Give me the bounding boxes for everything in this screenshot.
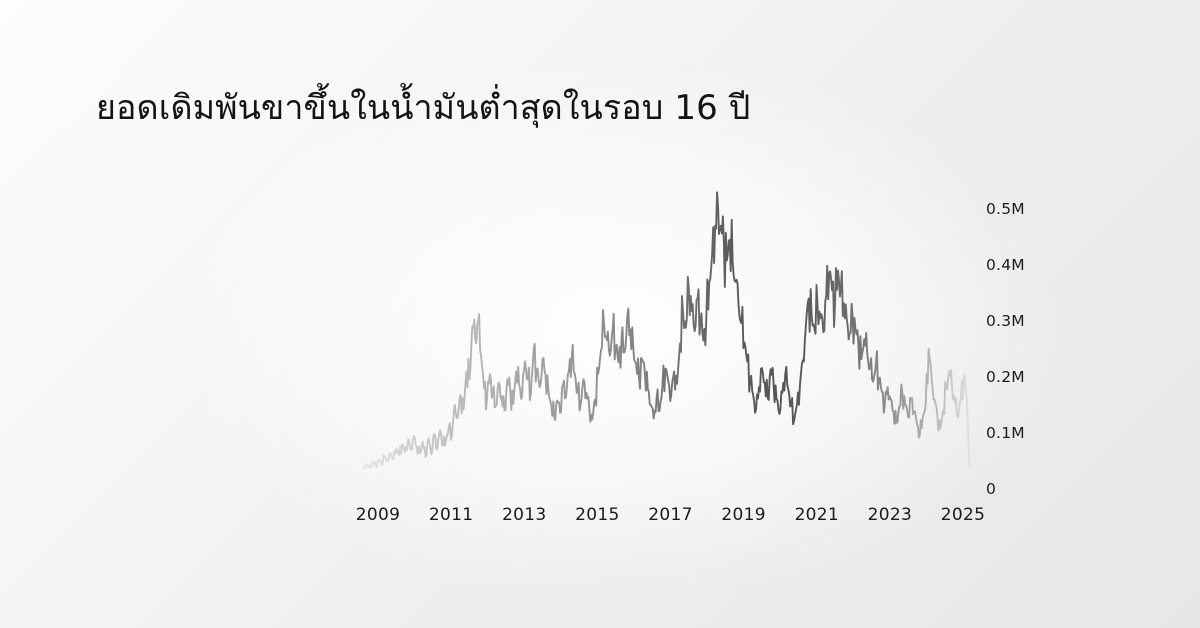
x-axis-tick-2011: 2011 bbox=[429, 505, 473, 525]
x-axis-tick-2017: 2017 bbox=[648, 505, 692, 525]
y-axis-tick-3: 0.3M bbox=[986, 312, 1025, 330]
x-axis-tick-2025: 2025 bbox=[941, 505, 985, 525]
x-axis-tick-2021: 2021 bbox=[795, 505, 839, 525]
x-axis-tick-2013: 2013 bbox=[502, 505, 546, 525]
y-axis-tick-2: 0.2M bbox=[986, 368, 1025, 386]
x-axis-tick-2023: 2023 bbox=[868, 505, 912, 525]
x-axis-tick-2009: 2009 bbox=[356, 505, 400, 525]
x-axis-tick-2019: 2019 bbox=[721, 505, 765, 525]
y-axis-tick-1: 0.1M bbox=[986, 424, 1025, 442]
y-axis-tick-5: 0.5M bbox=[986, 200, 1025, 218]
x-axis-tick-2015: 2015 bbox=[575, 505, 619, 525]
chart-canvas: ยอดเดิมพันขาขึ้นในน้ำมันต่ำสุดในรอบ 16 ป… bbox=[0, 0, 1200, 628]
y-axis-tick-4: 0.4M bbox=[986, 256, 1025, 274]
series-line bbox=[364, 192, 969, 469]
y-axis-tick-0: 0 bbox=[986, 480, 996, 498]
